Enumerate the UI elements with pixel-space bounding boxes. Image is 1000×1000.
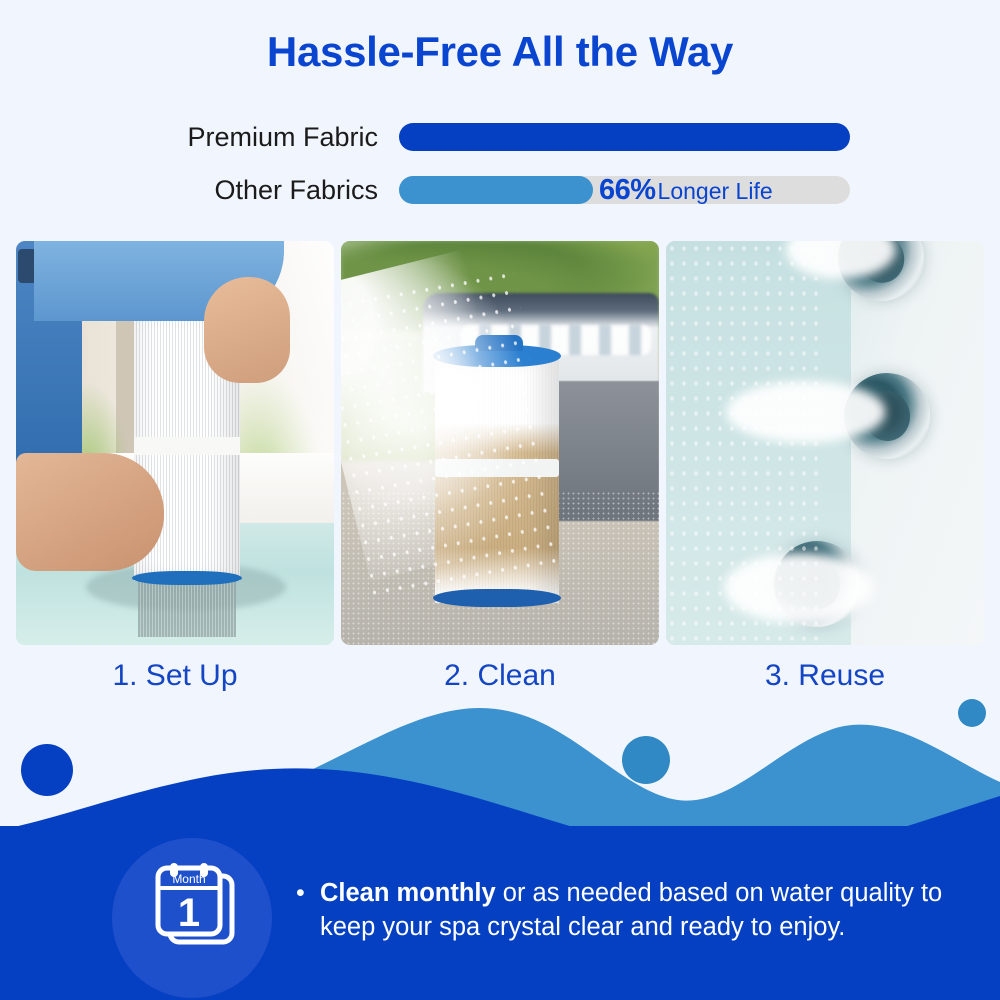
photo1-filter-bottom-cap bbox=[132, 571, 242, 585]
bar-label-other: Other Fabrics bbox=[60, 173, 378, 207]
photo1-hand-lower bbox=[16, 453, 164, 571]
calendar-icon: Month 1 bbox=[152, 862, 238, 954]
page-title: Hassle-Free All the Way bbox=[0, 28, 1000, 76]
infographic-page: Hassle-Free All the Way Premium Fabric O… bbox=[0, 0, 1000, 1000]
comparison-row-other: Other Fabrics 66%Longer Life bbox=[0, 171, 1000, 211]
step-photo-set-up bbox=[16, 241, 334, 645]
bubble-center-icon bbox=[622, 736, 670, 784]
comparison-row-premium: Premium Fabric bbox=[0, 118, 1000, 158]
banner-strong-text: Clean monthly bbox=[320, 879, 496, 907]
calendar-month-label: Month bbox=[172, 872, 205, 886]
photo1-hand-upper bbox=[204, 277, 290, 383]
bubble-right-icon bbox=[958, 699, 986, 727]
bullet-icon: • bbox=[296, 876, 305, 910]
longer-life-callout: 66%Longer Life bbox=[599, 175, 773, 210]
step-photo-row bbox=[16, 241, 984, 645]
step-photo-clean bbox=[341, 241, 659, 645]
longer-life-label: Longer Life bbox=[658, 178, 773, 204]
photo3-bubbles bbox=[666, 241, 826, 645]
bar-fill-other bbox=[399, 176, 593, 204]
banner-message-body: Clean monthly or as needed based on wate… bbox=[320, 876, 956, 944]
banner-message: • Clean monthly or as needed based on wa… bbox=[296, 876, 956, 944]
bar-track-other: 66%Longer Life bbox=[399, 176, 850, 204]
comparison-bars: Premium Fabric Other Fabrics 66%Longer L… bbox=[0, 112, 1000, 210]
bar-track-premium bbox=[399, 123, 850, 151]
longer-life-percent: 66% bbox=[599, 174, 656, 206]
bubble-left-icon bbox=[21, 744, 73, 796]
photo1-filter-band bbox=[134, 437, 240, 455]
calendar-day-number: 1 bbox=[178, 891, 200, 935]
step-photo-reuse bbox=[666, 241, 984, 645]
photo2-filter-base bbox=[433, 589, 561, 607]
bar-label-premium: Premium Fabric bbox=[60, 120, 378, 154]
photo1-filter-reflection bbox=[138, 581, 236, 637]
